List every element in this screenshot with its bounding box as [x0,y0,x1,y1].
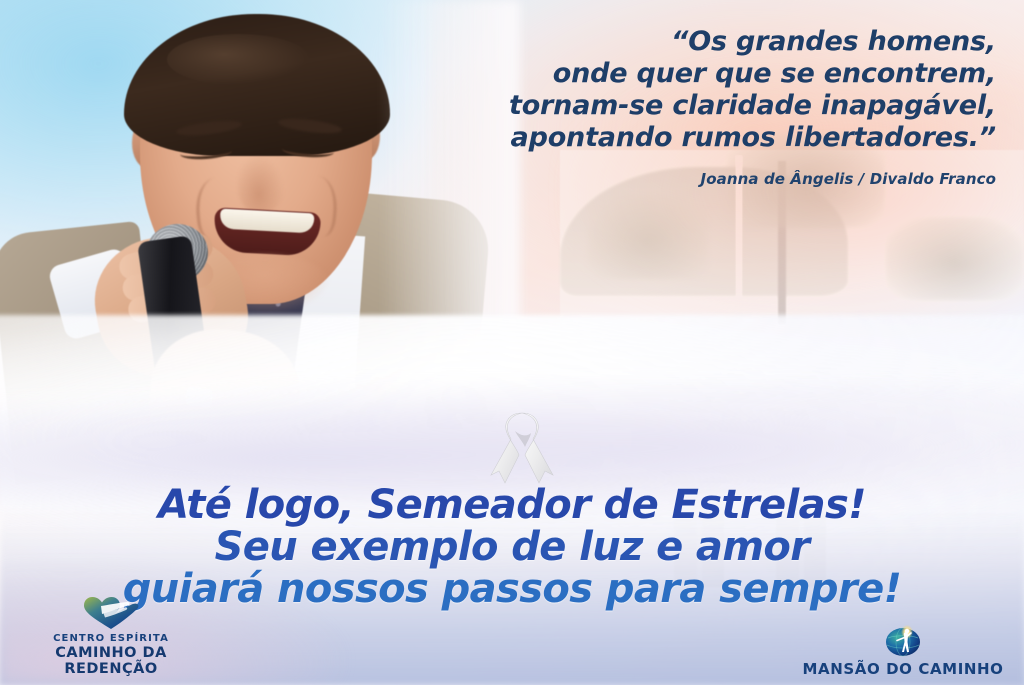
portrait-nose [238,154,284,212]
logo-mansao-do-caminho: MANSÃO DO CAMINHO [788,624,1018,677]
logo-centro-espirita: CENTRO ESPÍRITA CAMINHO DA REDENÇÃO [6,596,216,677]
logo-right-line-1: MANSÃO DO CAMINHO [788,661,1018,677]
headline-line-2: Seu exemplo de luz e amor [0,526,1024,568]
headline-line-1: Até logo, Semeador de Estrelas! [0,484,1024,526]
portrait-hair [124,14,390,156]
logo-left-line-2: CAMINHO DA REDENÇÃO [6,645,216,677]
globe-figure-light-icon [788,624,1018,658]
quote-line-4: apontando rumos libertadores.” [436,122,996,154]
white-ribbon-icon [489,409,555,487]
quote-attribution: Joanna de Ângelis / Divaldo Franco [436,170,996,188]
headline-block: Até logo, Semeador de Estrelas! Seu exem… [0,484,1024,610]
quote-block: “Os grandes homens, onde quer que se enc… [436,26,996,188]
quote-line-1: “Os grandes homens, [436,26,996,58]
scene-tree-canopy-left [588,195,709,279]
memorial-poster: “Os grandes homens, onde quer que se enc… [0,0,1024,685]
quote-line-2: onde quer que se encontrem, [436,58,996,90]
scene-palm-right [885,217,1024,301]
quote-line-3: tornam-se claridade inapagável, [436,90,996,122]
logo-left-line-1: CENTRO ESPÍRITA [6,633,216,645]
heart-hands-icon [6,596,216,630]
